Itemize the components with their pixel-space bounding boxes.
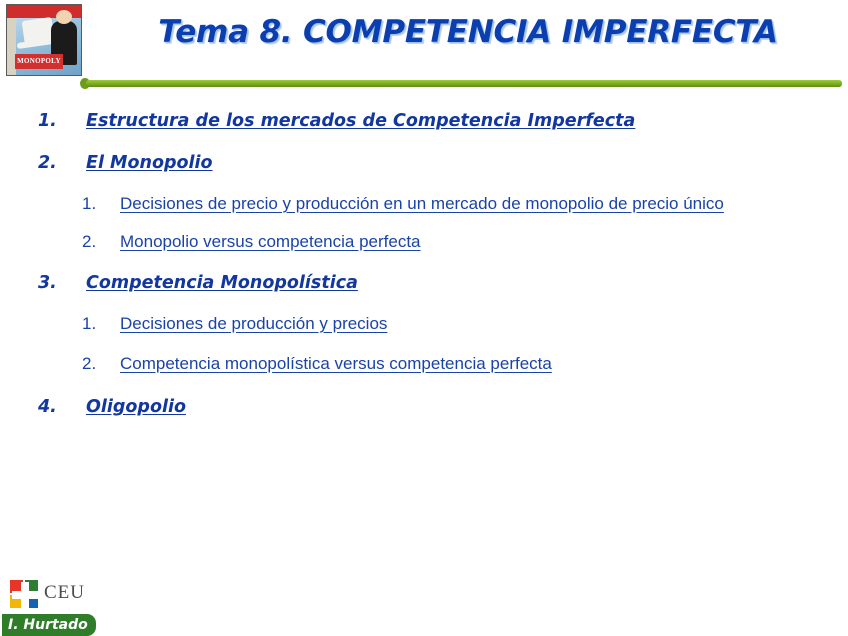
cross-horizontal-bar: [12, 591, 38, 599]
slide-header: MONOPOLY Tema 8. COMPETENCIA IMPERFECTA: [0, 0, 848, 88]
header-divider-rule: [86, 80, 842, 87]
list-item: 2. Monopolio versus competencia perfecta: [0, 228, 848, 256]
list-item: 1. Decisiones de producción y precios: [0, 310, 848, 338]
top-hat-icon: [22, 17, 55, 43]
ceu-wordmark: CEU: [44, 582, 85, 604]
list-item-label: Monopolio versus competencia perfecta: [120, 228, 421, 256]
list-item-number: 3.: [38, 272, 60, 294]
list-item-number: 1.: [38, 110, 60, 132]
list-item: 2. Competencia monopolística versus comp…: [0, 350, 848, 378]
list-item-label: Competencia monopolística versus compete…: [120, 350, 552, 378]
list-item: 4. Oligopolio: [0, 396, 848, 418]
list-item-number: 1.: [82, 190, 104, 218]
list-item-number: 4.: [38, 396, 60, 418]
page-title: Tema 8. COMPETENCIA IMPERFECTA: [98, 14, 838, 50]
list-item-label: Competencia Monopolística: [86, 272, 358, 294]
list-item-label: Decisiones de producción y precios: [120, 310, 387, 338]
list-item-number: 2.: [82, 228, 104, 256]
list-item: 1. Estructura de los mercados de Compete…: [0, 110, 848, 132]
list-item-label: Oligopolio: [86, 396, 186, 418]
list-item-label: Decisiones de precio y producción en un …: [120, 190, 724, 218]
monopoly-thumbnail-image: MONOPOLY: [6, 4, 82, 76]
author-badge: I. Hurtado: [2, 614, 96, 636]
ceu-cross-icon: [10, 580, 40, 610]
ceu-logo: CEU: [10, 580, 96, 614]
outline-list: 1. Estructura de los mercados de Compete…: [0, 110, 848, 432]
monopoly-logo-label: MONOPOLY: [15, 54, 63, 69]
list-item: 1. Decisiones de precio y producción en …: [0, 190, 848, 218]
list-item: 3. Competencia Monopolística: [0, 272, 848, 294]
list-item-number: 2.: [38, 152, 60, 174]
list-item-number: 1.: [82, 310, 104, 338]
list-item-label: Estructura de los mercados de Competenci…: [86, 110, 635, 132]
list-item-label: El Monopolio: [86, 152, 213, 174]
list-item: 2. El Monopolio: [0, 152, 848, 174]
list-item-number: 2.: [82, 350, 104, 378]
